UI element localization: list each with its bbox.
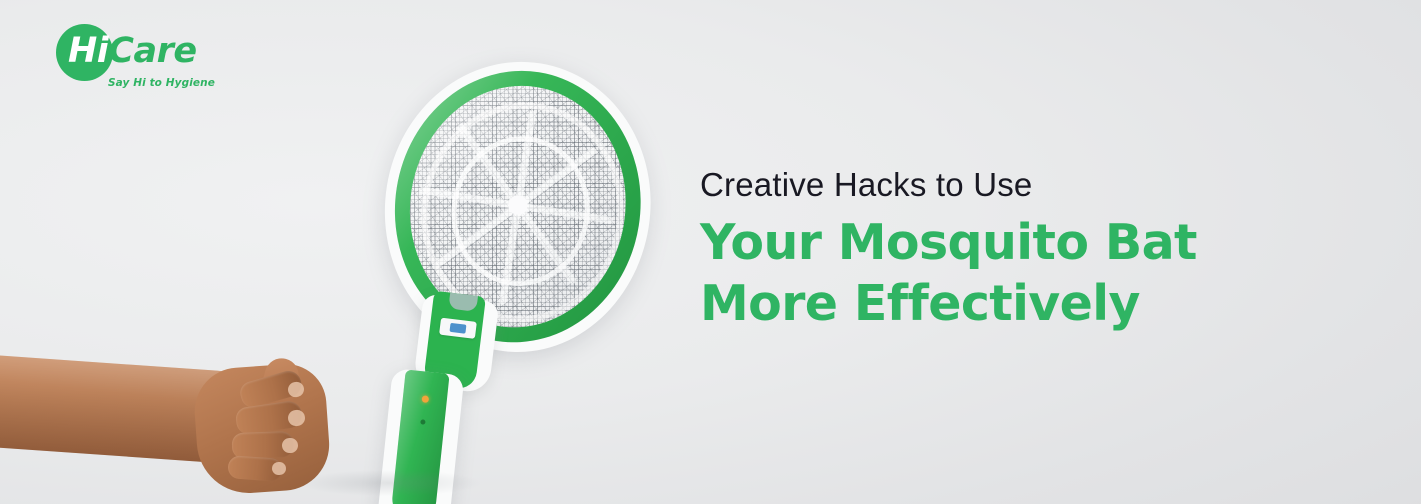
logo-text-hi: Hi [68,31,108,71]
kicker-text: Creative Hacks to Use [700,166,1340,205]
logo-wordmark: HiCare [68,34,197,69]
racket-label-mark-icon [449,323,466,334]
hicare-logo[interactable]: HiCare Say Hi to Hygiene [56,22,236,102]
logo-text-care: Care [108,31,196,71]
racket-brand-label [439,318,477,339]
racket-vent [448,293,478,312]
hero-banner: HiCare Say Hi to Hygiene [0,0,1421,504]
logo-tagline: Say Hi to Hygiene [108,77,215,89]
hand-holding-racket [0,352,360,504]
headline-line-2: More Effectively [700,274,1340,335]
headline-line-1: Your Mosquito Bat [700,213,1340,274]
headline-block: Creative Hacks to Use Your Mosquito Bat … [700,166,1340,334]
